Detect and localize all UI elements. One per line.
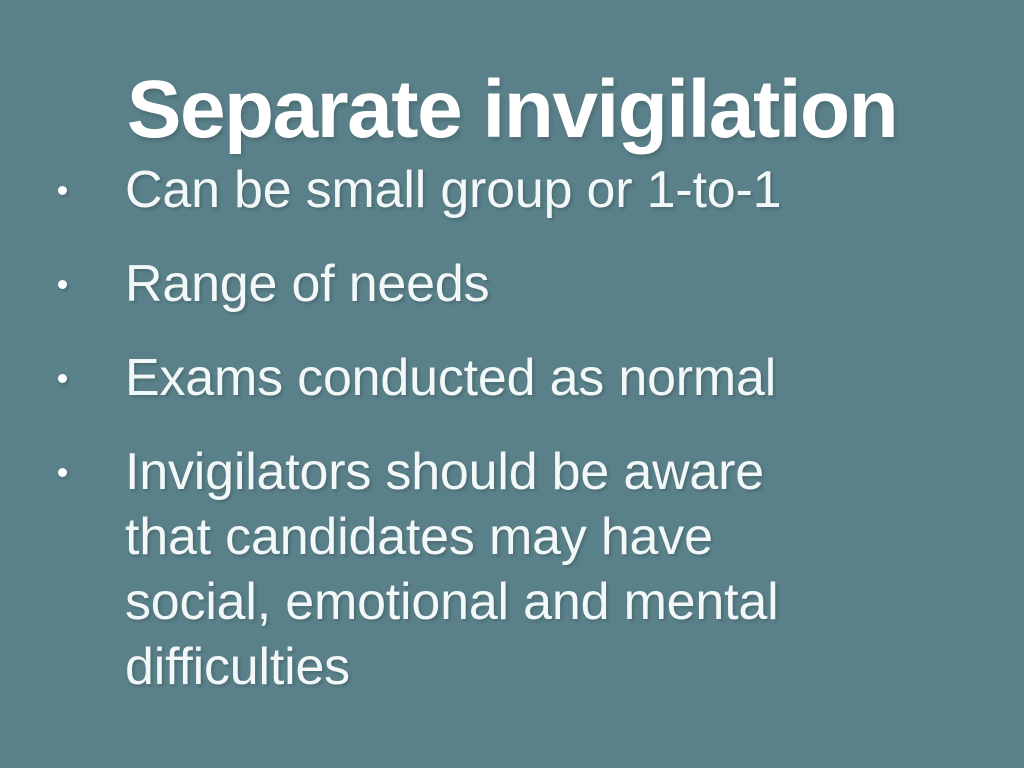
bullet-dot-icon bbox=[58, 280, 67, 289]
bullet-item-4-label: Invigilators should be aware that candid… bbox=[125, 440, 984, 700]
bullet-line: Invigilators should be aware bbox=[125, 440, 984, 505]
presentation-slide: Separate invigilation Can be small group… bbox=[0, 0, 1024, 768]
bullet-line: Can be small group or 1-to-1 bbox=[125, 158, 984, 223]
bullet-dot-icon bbox=[58, 186, 67, 195]
bullet-list: Can be small group or 1-to-1 Range of ne… bbox=[0, 158, 1024, 700]
bullet-line: Range of needs bbox=[125, 252, 984, 317]
bullet-item-1-label: Can be small group or 1-to-1 bbox=[125, 158, 984, 223]
bullet-item-4: Invigilators should be aware that candid… bbox=[0, 440, 1024, 700]
bullet-line: Exams conducted as normal bbox=[125, 346, 984, 411]
bullet-dot-icon bbox=[58, 468, 67, 477]
bullet-item-2: Range of needs bbox=[0, 252, 1024, 317]
bullet-item-1: Can be small group or 1-to-1 bbox=[0, 158, 1024, 223]
bullet-line: that candidates may have bbox=[125, 505, 984, 570]
bullet-dot-icon bbox=[58, 374, 67, 383]
slide-title: Separate invigilation bbox=[0, 69, 1024, 151]
bullet-line: difficulties bbox=[125, 635, 984, 700]
bullet-item-2-label: Range of needs bbox=[125, 252, 984, 317]
bullet-item-3: Exams conducted as normal bbox=[0, 346, 1024, 411]
bullet-item-3-label: Exams conducted as normal bbox=[125, 346, 984, 411]
bullet-line: social, emotional and mental bbox=[125, 570, 984, 635]
